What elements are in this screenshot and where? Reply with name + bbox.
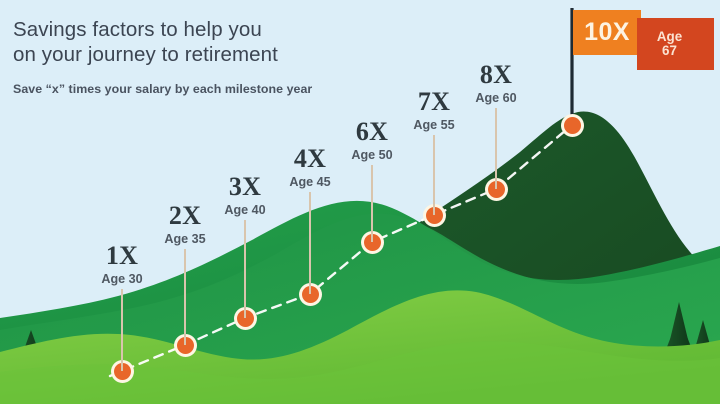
flag-multiplier-badge: 10X	[573, 10, 641, 55]
milestone-age-age-55: Age 55	[413, 119, 454, 132]
milestone-multiplier-age-30: 1X	[106, 243, 138, 269]
retirement-flag: 10X Age 67	[565, 5, 720, 130]
page-title: Savings factors to help you on your jour…	[13, 17, 278, 67]
milestone-multiplier-age-40: 3X	[229, 174, 261, 200]
page-subtitle: Save “x” times your salary by each miles…	[13, 82, 312, 96]
milestone-age-age-45: Age 45	[289, 176, 330, 189]
flag-age-value: 67	[662, 44, 677, 58]
milestone-age-age-35: Age 35	[164, 233, 205, 246]
milestone-multiplier-age-45: 4X	[294, 146, 326, 172]
milestone-multiplier-age-60: 8X	[480, 62, 512, 88]
milestone-stem	[184, 249, 186, 345]
milestone-multiplier-age-55: 7X	[418, 89, 450, 115]
milestone-stem	[495, 108, 497, 189]
milestone-multiplier-age-50: 6X	[356, 119, 388, 145]
flag-age-ribbon: Age 67	[637, 18, 714, 70]
milestone-age-age-30: Age 30	[101, 273, 142, 286]
flag-age-label: Age	[657, 30, 682, 44]
infographic-canvas: 1XAge 302XAge 353XAge 404XAge 456XAge 50…	[0, 0, 720, 404]
milestone-stem	[244, 220, 246, 318]
milestone-age-age-50: Age 50	[351, 149, 392, 162]
milestone-stem	[433, 135, 435, 215]
milestone-stem	[371, 165, 373, 242]
milestone-age-age-60: Age 60	[475, 92, 516, 105]
milestone-age-age-40: Age 40	[224, 204, 265, 217]
milestone-stem	[121, 289, 123, 371]
milestone-multiplier-age-35: 2X	[169, 203, 201, 229]
milestone-stem	[309, 192, 311, 294]
